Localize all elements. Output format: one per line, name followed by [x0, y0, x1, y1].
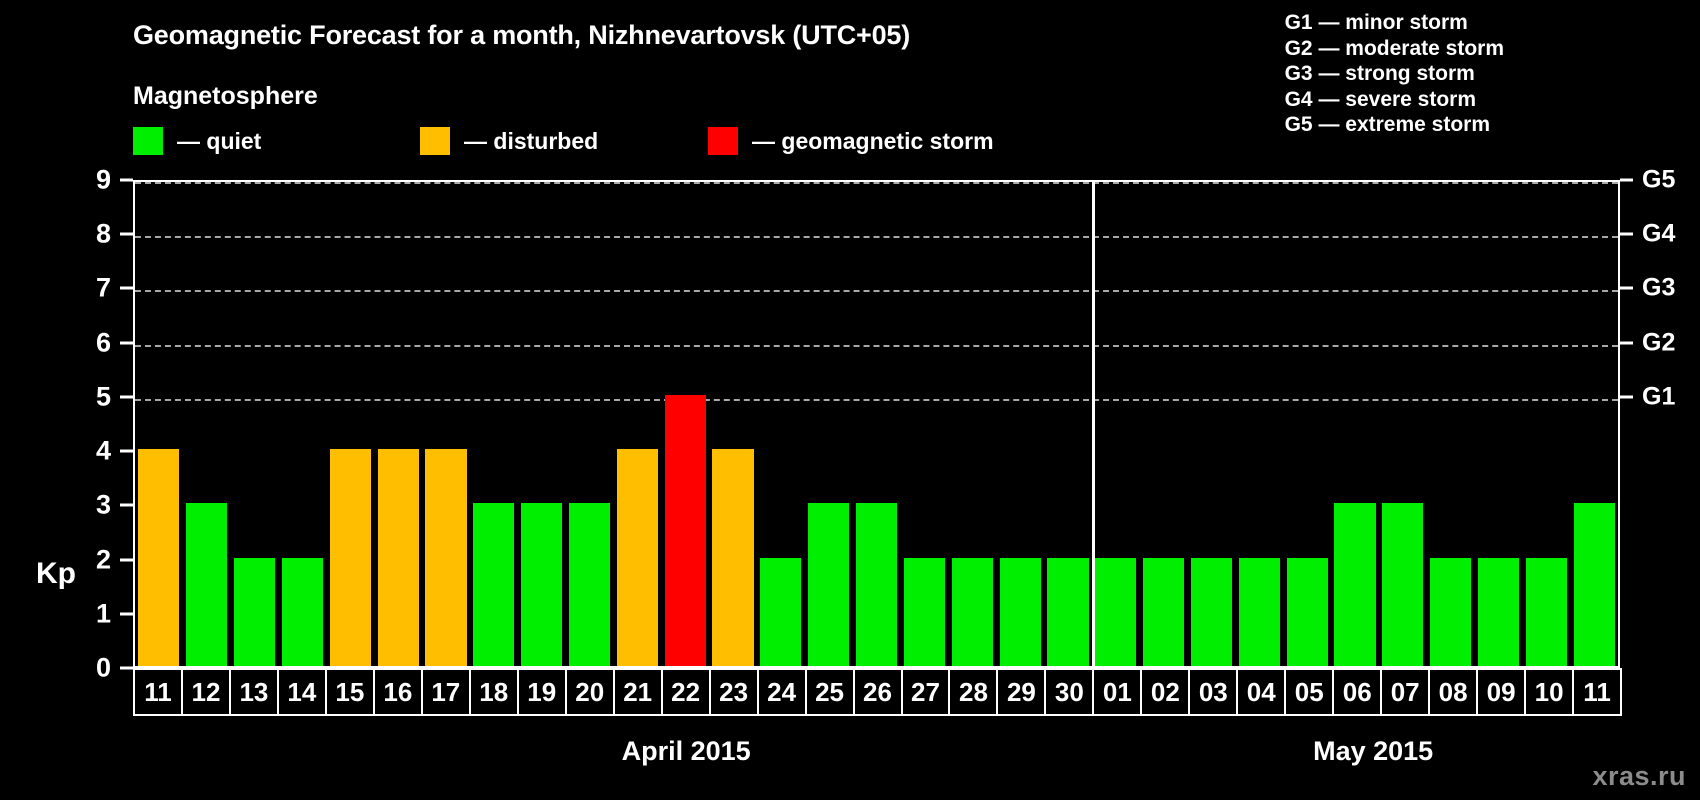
day-label-18: 18	[469, 668, 519, 716]
day-label-20: 20	[565, 668, 615, 716]
bar-day-26-kp-3	[856, 503, 897, 666]
day-label-14: 14	[277, 668, 327, 716]
day-label-13: 13	[229, 668, 279, 716]
day-label-22: 22	[661, 668, 711, 716]
g-tick-mark-G5	[1620, 179, 1633, 182]
day-label-strip: 1112131415161718192021222324252627282930…	[133, 668, 1620, 716]
y-tick-mark-3	[120, 504, 133, 507]
y-tick-mark-1	[120, 612, 133, 615]
y-tick-mark-8	[120, 233, 133, 236]
day-label-09: 09	[1476, 668, 1526, 716]
bar-cell	[1044, 182, 1092, 666]
g-tick-mark-G3	[1620, 287, 1633, 290]
day-label-11: 11	[133, 668, 183, 716]
day-label-11: 11	[1572, 668, 1622, 716]
bar-cell	[757, 182, 805, 666]
legend-item-quiet: — quiet	[133, 126, 261, 156]
bar-day-25-kp-3	[808, 503, 849, 666]
bar-day-20-kp-3	[569, 503, 610, 666]
y-tick-mark-2	[120, 558, 133, 561]
day-label-15: 15	[325, 668, 375, 716]
y-tick-label-5: 5	[96, 383, 111, 410]
day-label-28: 28	[948, 668, 998, 716]
bar-day-28-kp-2	[952, 558, 993, 666]
chart-subtitle: Magnetosphere	[133, 82, 318, 111]
g-tick-label-G3: G3	[1642, 276, 1675, 301]
bar-day-17-kp-4	[425, 449, 466, 666]
bar-cell	[1140, 182, 1188, 666]
storm-scale-key: G1 — minor stormG2 — moderate stormG3 — …	[1285, 10, 1504, 138]
storm-key-row-5: G5 — extreme storm	[1285, 112, 1504, 138]
day-label-16: 16	[373, 668, 423, 716]
g-tick-mark-G2	[1620, 341, 1633, 344]
legend-item-disturbed: — disturbed	[420, 126, 598, 156]
bar-cell	[183, 182, 231, 666]
bar-cell	[1092, 182, 1140, 666]
bar-cell	[1427, 182, 1475, 666]
bar-day-05-kp-2	[1287, 558, 1328, 666]
bar-day-15-kp-4	[330, 449, 371, 666]
y-tick-label-0: 0	[96, 655, 111, 682]
bar-cell	[1379, 182, 1427, 666]
bar-day-30-kp-2	[1047, 558, 1088, 666]
g-tick-label-G1: G1	[1642, 384, 1675, 409]
y-tick-label-1: 1	[96, 600, 111, 627]
day-label-04: 04	[1236, 668, 1286, 716]
legend-item-storm: — geomagnetic storm	[708, 126, 994, 156]
bar-day-08-kp-2	[1430, 558, 1471, 666]
day-label-26: 26	[853, 668, 903, 716]
bar-cell	[901, 182, 949, 666]
day-label-21: 21	[613, 668, 663, 716]
quiet-swatch	[133, 127, 163, 155]
bar-cell	[996, 182, 1044, 666]
bar-cell	[135, 182, 183, 666]
y-tick-mark-7	[120, 287, 133, 290]
y-tick-label-4: 4	[96, 438, 111, 465]
bar-cell	[613, 182, 661, 666]
month-divider	[1092, 182, 1095, 666]
day-label-19: 19	[517, 668, 567, 716]
y-tick-label-2: 2	[96, 546, 111, 573]
bar-cell	[374, 182, 422, 666]
bar-cell	[231, 182, 279, 666]
day-label-06: 06	[1332, 668, 1382, 716]
bar-day-04-kp-2	[1239, 558, 1280, 666]
bar-day-29-kp-2	[1000, 558, 1041, 666]
day-label-05: 05	[1284, 668, 1334, 716]
kp-axis: Kp 0123456789	[0, 180, 133, 668]
bar-day-23-kp-4	[712, 449, 753, 666]
storm-key-row-4: G4 — severe storm	[1285, 87, 1504, 113]
bar-series	[135, 182, 1618, 666]
bar-day-24-kp-2	[760, 558, 801, 666]
day-label-17: 17	[421, 668, 471, 716]
day-label-25: 25	[805, 668, 855, 716]
bar-cell	[805, 182, 853, 666]
kp-axis-label: Kp	[36, 557, 76, 591]
g-tick-label-G2: G2	[1642, 330, 1675, 355]
g-tick-mark-G4	[1620, 233, 1633, 236]
y-tick-label-7: 7	[96, 275, 111, 302]
bar-day-11-kp-4	[138, 449, 179, 666]
bar-day-21-kp-4	[617, 449, 658, 666]
bar-day-02-kp-2	[1143, 558, 1184, 666]
day-label-12: 12	[181, 668, 231, 716]
storm-key-row-1: G1 — minor storm	[1285, 10, 1504, 36]
bar-cell	[518, 182, 566, 666]
storm-key-row-2: G2 — moderate storm	[1285, 36, 1504, 62]
day-label-24: 24	[757, 668, 807, 716]
bar-day-11-kp-3	[1574, 503, 1615, 666]
legend-label: — geomagnetic storm	[752, 130, 994, 153]
month-caption-april: April 2015	[622, 736, 751, 767]
g-scale-axis: G1G2G3G4G5	[1620, 180, 1700, 668]
legend-label: — disturbed	[464, 130, 598, 153]
storm-key-row-3: G3 — strong storm	[1285, 61, 1504, 87]
bar-cell	[709, 182, 757, 666]
day-label-08: 08	[1428, 668, 1478, 716]
y-tick-label-8: 8	[96, 221, 111, 248]
g-tick-mark-G1	[1620, 395, 1633, 398]
bar-day-14-kp-2	[282, 558, 323, 666]
day-label-30: 30	[1044, 668, 1094, 716]
day-label-01: 01	[1092, 668, 1142, 716]
bar-cell	[279, 182, 327, 666]
bar-cell	[1570, 182, 1618, 666]
legend-label: — quiet	[177, 130, 261, 153]
bar-day-27-kp-2	[904, 558, 945, 666]
bar-cell	[1522, 182, 1570, 666]
y-tick-label-3: 3	[96, 492, 111, 519]
y-tick-mark-9	[120, 179, 133, 182]
bar-cell	[661, 182, 709, 666]
bar-cell	[326, 182, 374, 666]
bar-day-03-kp-2	[1191, 558, 1232, 666]
bar-cell	[1235, 182, 1283, 666]
storm-swatch	[708, 127, 738, 155]
bar-day-16-kp-4	[378, 449, 419, 666]
bar-day-13-kp-2	[234, 558, 275, 666]
y-tick-label-6: 6	[96, 329, 111, 356]
bar-day-22-kp-5	[665, 395, 706, 666]
bar-cell	[422, 182, 470, 666]
y-tick-mark-6	[120, 341, 133, 344]
page-title: Geomagnetic Forecast for a month, Nizhne…	[133, 20, 910, 51]
bar-cell	[1475, 182, 1523, 666]
bar-day-12-kp-3	[186, 503, 227, 666]
day-label-23: 23	[709, 668, 759, 716]
day-label-02: 02	[1140, 668, 1190, 716]
bar-cell	[470, 182, 518, 666]
bar-cell	[1331, 182, 1379, 666]
day-label-29: 29	[996, 668, 1046, 716]
bar-cell	[948, 182, 996, 666]
bar-cell	[1283, 182, 1331, 666]
bar-day-01-kp-2	[1095, 558, 1136, 666]
day-label-07: 07	[1380, 668, 1430, 716]
bar-day-19-kp-3	[521, 503, 562, 666]
bar-day-07-kp-3	[1382, 503, 1423, 666]
month-caption-may: May 2015	[1313, 736, 1433, 767]
plot-area	[133, 180, 1620, 668]
disturbed-swatch	[420, 127, 450, 155]
bar-day-10-kp-2	[1526, 558, 1567, 666]
day-label-27: 27	[901, 668, 951, 716]
bar-cell	[1188, 182, 1236, 666]
g-tick-label-G4: G4	[1642, 222, 1675, 247]
g-tick-label-G5: G5	[1642, 168, 1675, 193]
bar-day-06-kp-3	[1334, 503, 1375, 666]
bar-cell	[566, 182, 614, 666]
bar-cell	[853, 182, 901, 666]
y-tick-mark-0	[120, 667, 133, 670]
y-tick-mark-5	[120, 395, 133, 398]
y-tick-mark-4	[120, 450, 133, 453]
bar-day-18-kp-3	[473, 503, 514, 666]
geomagnetic-forecast-chart: Geomagnetic Forecast for a month, Nizhne…	[0, 0, 1700, 800]
day-label-10: 10	[1524, 668, 1574, 716]
y-tick-label-9: 9	[96, 167, 111, 194]
bar-day-09-kp-2	[1478, 558, 1519, 666]
site-watermark: xras.ru	[1592, 761, 1686, 792]
day-label-03: 03	[1188, 668, 1238, 716]
